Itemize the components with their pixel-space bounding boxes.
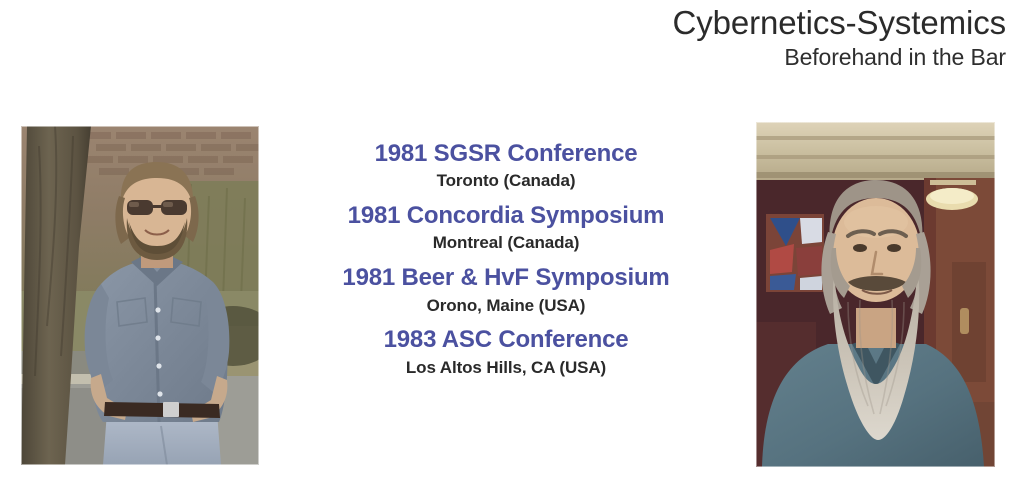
photo-left-image	[21, 126, 259, 465]
page-subtitle: Beforehand in the Bar	[673, 45, 1006, 69]
list-item: 1981 Concordia Symposium Montreal (Canad…	[266, 202, 746, 255]
slide-title-block: Cybernetics-Systemics Beforehand in the …	[673, 6, 1006, 69]
slide-canvas: Cybernetics-Systemics Beforehand in the …	[0, 0, 1024, 495]
page-title: Cybernetics-Systemics	[673, 6, 1006, 41]
photo-right-image	[756, 122, 995, 467]
event-place: Montreal (Canada)	[266, 231, 746, 255]
event-name: 1981 Beer & HvF Symposium	[266, 264, 746, 292]
conference-list: 1981 SGSR Conference Toronto (Canada) 19…	[266, 140, 746, 379]
photo-left-bearded-man-outdoors	[21, 126, 259, 465]
event-name: 1983 ASC Conference	[266, 326, 746, 354]
list-item: 1983 ASC Conference Los Altos Hills, CA …	[266, 326, 746, 379]
event-place: Orono, Maine (USA)	[266, 294, 746, 318]
photo-right-bearded-man-indoors	[756, 122, 995, 467]
list-item: 1981 Beer & HvF Symposium Orono, Maine (…	[266, 264, 746, 317]
event-place: Toronto (Canada)	[266, 169, 746, 193]
event-name: 1981 SGSR Conference	[266, 140, 746, 168]
list-item: 1981 SGSR Conference Toronto (Canada)	[266, 140, 746, 193]
event-place: Los Altos Hills, CA (USA)	[266, 356, 746, 380]
event-name: 1981 Concordia Symposium	[266, 202, 746, 230]
